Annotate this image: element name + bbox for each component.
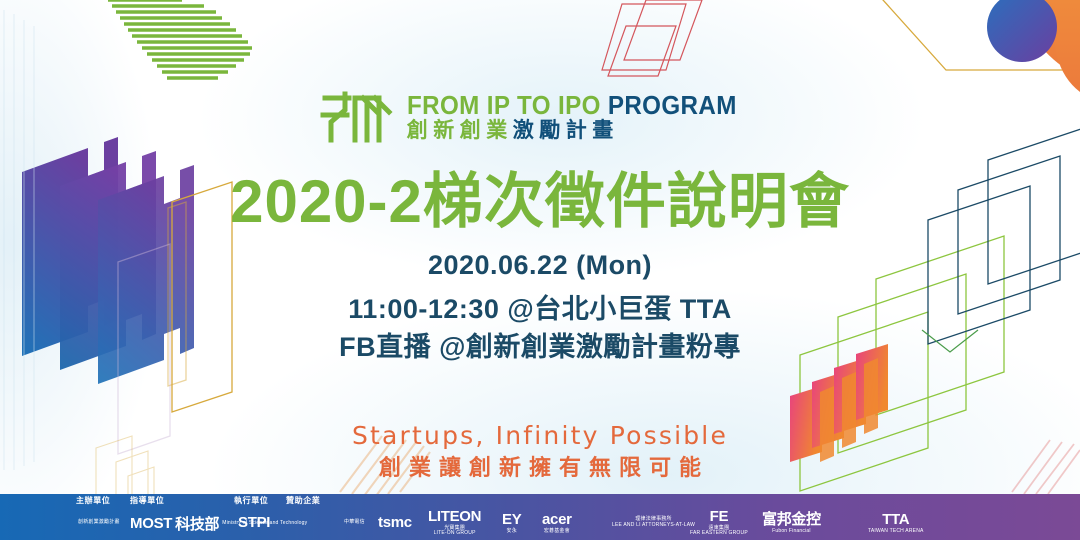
chunghwa-telecom-logo: 中華電信 [344, 506, 365, 540]
stpi-logo: STPI [238, 506, 270, 540]
program-title-zh-dark: 激勵計畫 [513, 119, 619, 142]
far-eastern-group-logo: FE遠東集團FAR EASTERN GROUP [690, 506, 748, 540]
sponsor-category-label-0: 主辦單位 [76, 495, 110, 506]
lee-and-li-logo: 理律法律事務所LEE AND LI ATTORNEYS-AT-LAW [612, 506, 695, 540]
most-logo: MOST科技部Ministry of Science and Technolog… [130, 506, 307, 540]
program-title-en-green: FROM IP TO IPO [407, 90, 608, 120]
program-title-en-dark: PROGRAM [608, 90, 737, 120]
program-title-zh-green: 創新創業 [407, 119, 513, 142]
tsmc-logo: tsmc [378, 506, 412, 540]
sponsor-logo-strip: 創新創業激勵計畫MOST科技部Ministry of Science and T… [0, 506, 1080, 540]
sponsor-category-label-3: 贊助企業 [286, 495, 320, 506]
fiti-logo: 創新創業激勵計畫 [78, 506, 120, 540]
page-title: 2020-2梯次徵件說明會 [0, 172, 1080, 232]
event-livestream: FB直播 @創新創業激勵計畫粉專 [0, 325, 1080, 364]
tagline-zh: 創業讓創新擁有無限可能 [0, 450, 1080, 482]
fiti-monogram-icon [319, 88, 393, 146]
program-title-en: FROM IP TO IPO PROGRAM [407, 92, 737, 119]
sponsor-category-label-2: 執行單位 [234, 495, 268, 506]
acer-logo: acer宏碁基金會 [542, 506, 572, 540]
event-date: 2020.06.22 (Mon) [0, 250, 1080, 281]
event-time-venue: 11:00-12:30 @台北小巨蛋 TTA [0, 287, 1080, 326]
sponsor-category-label-1: 指導單位 [130, 495, 164, 506]
event-poster: FROM IP TO IPO PROGRAM 創新創業激勵計畫 2020-2梯次… [0, 0, 1080, 540]
program-title-zh: 創新創業激勵計畫 [407, 119, 762, 142]
tagline-en: Startups, Infinity Possible [0, 421, 1080, 450]
program-logo: FROM IP TO IPO PROGRAM 創新創業激勵計畫 [0, 88, 1080, 146]
tta-logo: TTATAIWAN TECH ARENA [868, 506, 924, 540]
fubon-financial-logo: 富邦金控Fubon Financial [762, 506, 821, 540]
liteon-logo: LITEON光寶集團LITE-ON GROUP [428, 506, 481, 540]
sponsor-footer: 主辦單位指導單位執行單位贊助企業 創新創業激勵計畫MOST科技部Ministry… [0, 494, 1080, 540]
ey-logo: EY安永 [502, 506, 521, 540]
